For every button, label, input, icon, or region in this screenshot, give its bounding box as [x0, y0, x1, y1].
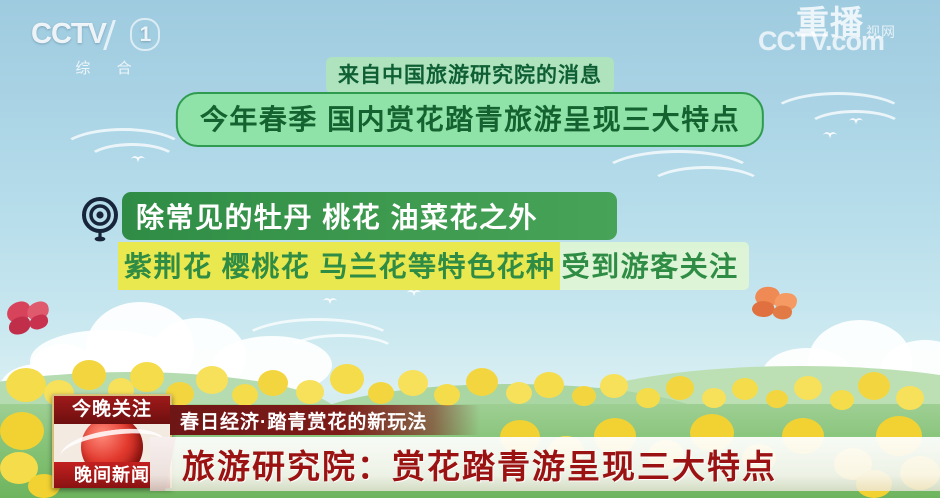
lower-third-title-text: 旅游研究院：赏花踏青游呈现三大特点 — [182, 440, 777, 488]
broadcast-screen: CCTV 1 综 合 重播 视网 CCTV.com 来自中国旅游研究院的消息 今… — [0, 0, 940, 498]
cctv-com-wordmark: CCTV.com — [758, 28, 884, 55]
wispy-cloud — [806, 110, 904, 146]
bird-icon — [848, 118, 864, 126]
lower-third-subtitle-text: 春日经济·踏青赏花的新玩法 — [180, 407, 427, 434]
headline-kicker-text: 来自中国旅游研究院的消息 — [326, 57, 614, 93]
butterfly-red — [3, 296, 55, 339]
cctv-com-prefix: CCTV — [758, 26, 825, 56]
cctv-wordmark: CCTV — [31, 20, 106, 49]
content-line-1-text: 除常见的牡丹 桃花 油菜花之外 — [136, 196, 538, 236]
cctv-com-domain: .com — [825, 26, 884, 56]
headline-main-text: 今年春季 国内赏花踏青旅游呈现三大特点 — [200, 104, 740, 135]
location-target-icon — [79, 196, 121, 242]
content-line-2-tail: 受到游客关注 — [560, 242, 749, 290]
lower-third: 今晚关注 晚间新闻 春日经济·踏青赏花的新玩法 旅游研究院：赏花踏青游呈现三大特… — [0, 393, 940, 498]
bird-icon — [130, 156, 146, 164]
wispy-cloud — [648, 166, 764, 206]
content-line-2: 紫荆花 樱桃花 马兰花等特色花种受到游客关注 — [118, 243, 749, 288]
content-line-1: 除常见的牡丹 桃花 油菜花之外 — [122, 192, 617, 240]
bird-icon — [822, 132, 838, 140]
lower-third-subtitle-bar: 春日经济·踏青赏花的新玩法 — [170, 405, 480, 435]
program-logo-top-label: 今晚关注 — [54, 396, 170, 424]
headline-kicker: 来自中国旅游研究院的消息 — [0, 57, 940, 93]
butterfly-orange — [749, 284, 800, 325]
lower-third-title-bar: 旅游研究院：赏花踏青游呈现三大特点 — [150, 437, 940, 491]
bird-icon — [406, 290, 422, 298]
channel-logo-row: CCTV 1 — [31, 18, 181, 51]
logo-slash-icon — [103, 20, 128, 50]
bird-icon — [322, 298, 338, 306]
channel-number: 1 — [130, 18, 160, 51]
content-line-2-highlight: 紫荆花 樱桃花 马兰花等特色花种 — [118, 242, 560, 290]
headline-main-pill: 今年春季 国内赏花踏青旅游呈现三大特点 — [176, 92, 764, 147]
